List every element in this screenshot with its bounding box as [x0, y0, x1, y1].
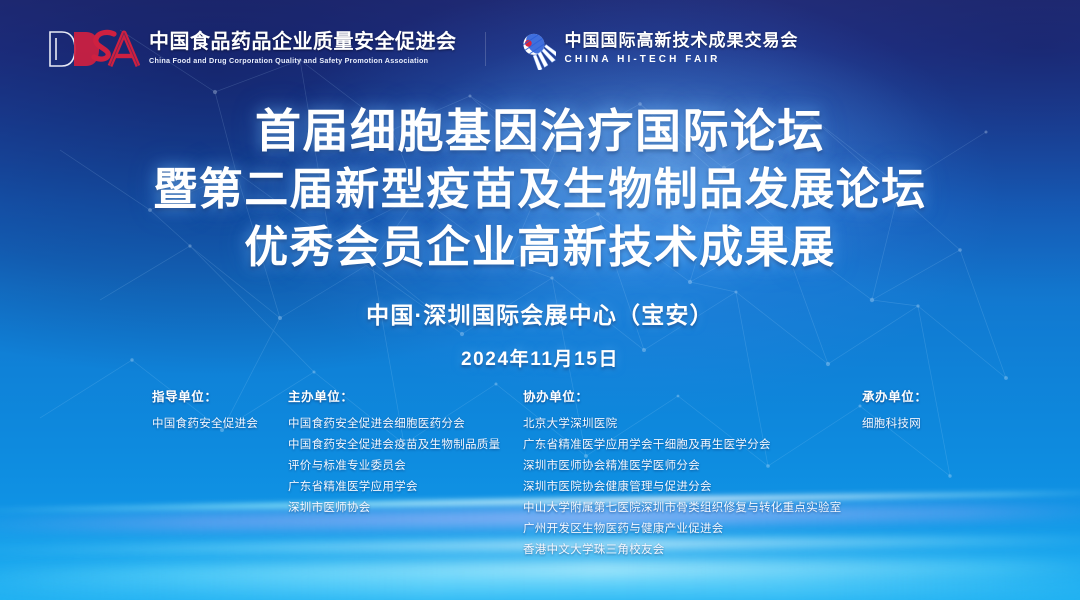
- organizer-column-header: 主办单位：: [288, 386, 500, 405]
- organizer-item: 深圳市医院协会健康管理与促进分会: [523, 477, 842, 498]
- organizer-item: 中国食药安全促进会疫苗及生物制品质量: [288, 435, 500, 456]
- cfdsa-en-name: China Food and Drug Corporation Quality …: [149, 56, 457, 67]
- chtf-logo: 中国国际高新技术成果交易会 CHINA HI-TECH FAIR: [514, 28, 799, 70]
- conference-banner: 中国食品药品企业质量安全促进会 China Food and Drug Corp…: [0, 0, 1080, 600]
- cfdsa-logo: 中国食品药品企业质量安全促进会 China Food and Drug Corp…: [44, 28, 457, 70]
- organizer-item: 广东省精准医学应用学会干细胞及再生医学分会: [523, 435, 842, 456]
- organizer-item: 中国食药安全促进会细胞医药分会: [288, 414, 500, 435]
- cfdsa-cn-name: 中国食品药品企业质量安全促进会: [149, 31, 457, 54]
- event-venue: 中国·深圳国际会展中心（宝安）: [0, 296, 1080, 330]
- organizer-column-undertaker: 承办单位： 细胞科技网: [862, 386, 928, 435]
- organizer-item: 北京大学深圳医院: [523, 414, 842, 435]
- organizer-column-header: 指导单位：: [152, 386, 258, 405]
- organizer-item: 中山大学附属第七医院深圳市骨类组织修复与转化重点实验室: [523, 498, 842, 519]
- title-block: 首届细胞基因治疗国际论坛 暨第二届新型疫苗及生物制品发展论坛 优秀会员企业高新技…: [0, 104, 1080, 371]
- organizer-column-coorganizer: 协办单位： 北京大学深圳医院 广东省精准医学应用学会干细胞及再生医学分会 深圳市…: [523, 386, 842, 560]
- title-line-3: 优秀会员企业高新技术成果展: [0, 222, 1080, 274]
- chtf-cn-name: 中国国际高新技术成果交易会: [565, 31, 799, 51]
- china-hi-tech-fair-globe-logo: [514, 28, 556, 70]
- organizer-item: 深圳市医师协会: [288, 498, 500, 519]
- organizer-column-header: 协办单位：: [523, 386, 842, 405]
- organizer-item: 细胞科技网: [862, 414, 928, 435]
- organizer-item: 评价与标准专业委员会: [288, 456, 500, 477]
- chtf-en-name: CHINA HI-TECH FAIR: [565, 53, 799, 67]
- logo-row: 中国食品药品企业质量安全促进会 China Food and Drug Corp…: [44, 28, 799, 70]
- organizer-column-header: 承办单位：: [862, 386, 928, 405]
- event-date: 2024年11月15日: [0, 344, 1080, 371]
- organizer-item: 中国食药安全促进会: [152, 414, 258, 435]
- organizer-column-host: 主办单位： 中国食药安全促进会细胞医药分会 中国食药安全促进会疫苗及生物制品质量…: [288, 386, 500, 519]
- title-line-1: 首届细胞基因治疗国际论坛: [0, 104, 1080, 158]
- organizer-item: 广州开发区生物医药与健康产业促进会: [523, 519, 842, 540]
- organizer-item: 深圳市医师协会精准医学医师分会: [523, 456, 842, 477]
- cfdsa-monogram-logo: [44, 28, 140, 70]
- organizer-item: 香港中文大学珠三角校友会: [523, 540, 842, 561]
- organizer-item: 广东省精准医学应用学会: [288, 477, 500, 498]
- logo-divider: [485, 32, 486, 66]
- organizer-column-guidance: 指导单位： 中国食药安全促进会: [152, 386, 258, 435]
- title-line-2: 暨第二届新型疫苗及生物制品发展论坛: [0, 164, 1080, 216]
